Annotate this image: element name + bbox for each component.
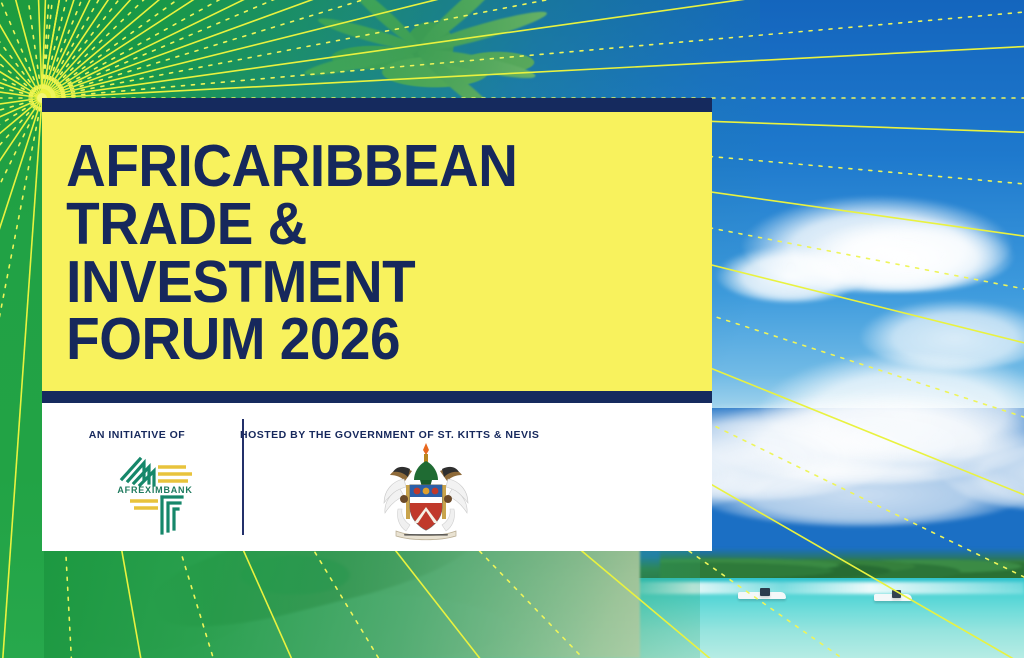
host-column: HOSTED BY THE GOVERNMENT OF ST. KITTS & … <box>210 403 539 443</box>
afreximbank-logo: AFREXIMBANK <box>100 445 210 541</box>
page-title: AFRICARIBBEAN TRADE & INVESTMENT FORUM 2… <box>42 138 665 369</box>
afreximbank-wordmark: AFREXIMBANK <box>100 485 210 495</box>
coat-of-arms-icon <box>370 439 482 543</box>
title-panel: AFRICARIBBEAN TRADE & INVESTMENT FORUM 2… <box>42 112 712 391</box>
boat <box>760 588 770 596</box>
content-panel: AFRICARIBBEAN TRADE & INVESTMENT FORUM 2… <box>42 98 712 551</box>
initiative-label: AN INITIATIVE OF <box>89 429 185 441</box>
navy-divider-rule <box>42 391 712 403</box>
green-left-bar <box>0 0 44 658</box>
cloud <box>690 456 1024 526</box>
initiative-column: AN INITIATIVE OF <box>42 403 210 443</box>
palm-tree-crown <box>300 0 560 108</box>
poster-canvas: AFRICARIBBEAN TRADE & INVESTMENT FORUM 2… <box>0 0 1024 658</box>
coat-of-arms-svg <box>370 439 482 543</box>
credits-labels-row: AN INITIATIVE OF HOSTED BY THE GOVERNMEN… <box>42 403 712 443</box>
surf-line <box>620 582 1024 594</box>
vertical-divider <box>242 419 244 535</box>
navy-top-rule <box>42 98 712 112</box>
boat <box>892 590 901 598</box>
cloud <box>716 246 866 302</box>
credits-panel: AN INITIATIVE OF HOSTED BY THE GOVERNMEN… <box>42 403 712 551</box>
